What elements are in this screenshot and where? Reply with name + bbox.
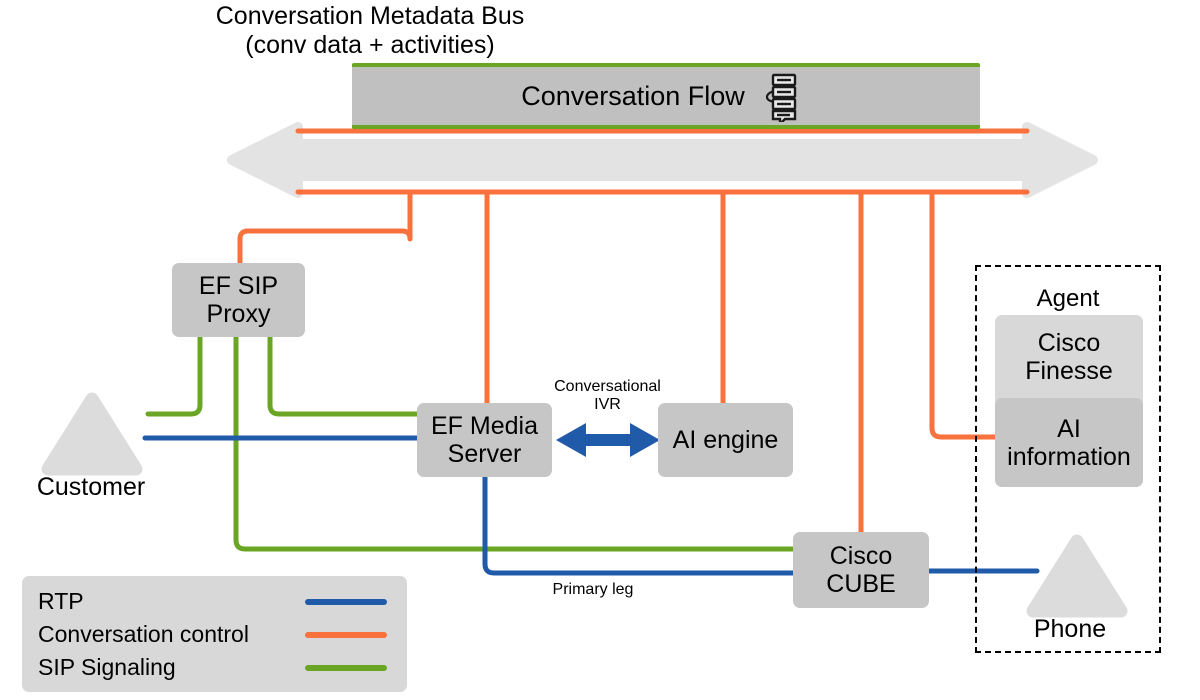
ef-sip-proxy-line1: EF SIP — [199, 272, 278, 300]
ef-media-server-line1: EF Media — [431, 412, 538, 440]
conversational-ivr-line1: Conversational — [545, 378, 670, 396]
ef-media-server-line2: Server — [431, 440, 538, 468]
cisco-cube-line1: Cisco — [826, 542, 895, 570]
legend-item-rtp: RTP — [22, 585, 407, 618]
primary-leg-label: Primary leg — [493, 581, 693, 599]
ef-sip-proxy-line2: Proxy — [199, 300, 278, 328]
legend-label-rtp: RTP — [38, 588, 84, 615]
legend-item-sip-signaling: SIP Signaling — [22, 651, 407, 684]
node-ef-sip-proxy[interactable]: EF SIP Proxy — [172, 263, 305, 337]
diagram-canvas: Conversation Flow Conversation Metadata … — [0, 0, 1200, 700]
legend-item-conversation-control: Conversation control — [22, 618, 407, 651]
legend-swatch-rtp — [305, 599, 387, 605]
node-ai-engine[interactable]: AI engine — [658, 403, 793, 477]
legend-swatch-sip-signaling — [305, 665, 387, 671]
agent-title: Agent — [975, 285, 1161, 313]
ivr-double-arrow — [556, 423, 660, 457]
ai-engine-label: AI engine — [673, 426, 779, 454]
legend-label-conversation-control: Conversation control — [38, 621, 249, 648]
phone-label: Phone — [1000, 615, 1140, 644]
cisco-cube-line2: CUBE — [826, 570, 895, 598]
legend-swatch-conversation-control — [305, 632, 387, 638]
node-ef-media-server[interactable]: EF Media Server — [417, 403, 552, 477]
conversational-ivr-label: Conversational IVR — [545, 378, 670, 415]
legend: RTP Conversation control SIP Signaling — [22, 576, 407, 692]
node-cisco-cube[interactable]: Cisco CUBE — [793, 532, 929, 608]
conversational-ivr-line2: IVR — [545, 396, 670, 414]
legend-label-sip-signaling: SIP Signaling — [38, 654, 176, 681]
customer-label: Customer — [10, 473, 172, 502]
